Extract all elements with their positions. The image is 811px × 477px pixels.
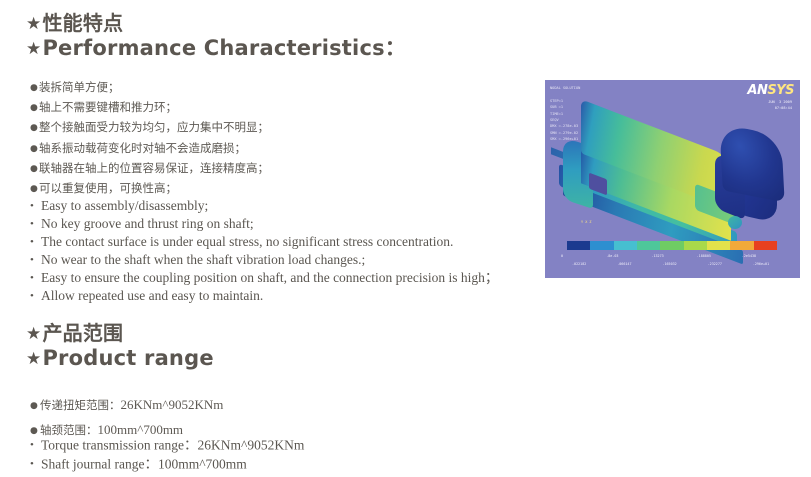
fea-colorbar-label: .13273 bbox=[651, 254, 696, 258]
fea-colorbar-swatch bbox=[637, 241, 660, 250]
list-item: ●轴系振动载荷变化时对轴不会造成磨损； bbox=[30, 139, 269, 159]
list-item: •Torque transmission range：26KNm^9052KNm bbox=[30, 436, 304, 455]
fea-colorbar-label: 0 bbox=[561, 254, 606, 258]
fea-colorbar-swatch bbox=[730, 241, 753, 250]
ansys-logo-suffix: SYS bbox=[767, 83, 794, 98]
list-item: •Easy to ensure the coupling position on… bbox=[30, 269, 498, 287]
fea-colorbar-swatch bbox=[754, 241, 777, 250]
performance-list-en: •Easy to assembly/disassembly; •No key g… bbox=[30, 197, 498, 306]
ansys-logo: ANSYS bbox=[747, 83, 794, 98]
bullet-icon: ● bbox=[30, 395, 40, 418]
fea-solution-info: NODAL SOLUTION STEP=1 SUB =1 TIME=1 SEQV… bbox=[550, 85, 580, 143]
bullet-icon: • bbox=[30, 436, 41, 454]
fea-colorbar-swatch bbox=[684, 241, 707, 250]
list-item: •Allow repeated use and easy to maintain… bbox=[30, 287, 498, 305]
product-range-list-en: •Torque transmission range：26KNm^9052KNm… bbox=[30, 436, 304, 473]
list-item: •Easy to assembly/disassembly; bbox=[30, 197, 498, 215]
fea-axis-triad: Y X Z bbox=[581, 220, 592, 224]
bullet-icon: • bbox=[30, 252, 41, 270]
list-item: •No key groove and thrust ring on shaft; bbox=[30, 215, 498, 233]
fea-colorbar-label: .165032 bbox=[662, 262, 707, 266]
list-item-text: No key groove and thrust ring on shaft; bbox=[41, 216, 254, 231]
list-item-text: Torque transmission range：26KNm^9052KNm bbox=[41, 438, 304, 453]
ansys-logo-prefix: AN bbox=[747, 83, 767, 98]
fea-end-nub bbox=[728, 216, 742, 229]
list-item: ●装拆简单方便； bbox=[30, 78, 269, 98]
fea-colorbar-labels-row1: 0 .8e-03 .13273 .188805 .2e5438 bbox=[561, 254, 787, 258]
list-item-label: 传递扭矩范围： bbox=[40, 398, 121, 412]
list-item-text: 装拆简单方便； bbox=[39, 80, 120, 94]
performance-list-cn: ●装拆简单方便； ●轴上不需要键槽和推力环； ●整个接触面受力较为均匀，应力集中… bbox=[30, 78, 269, 199]
fea-colorbar-label: .296e+01 bbox=[753, 262, 798, 266]
list-item-text: The contact surface is under equal stres… bbox=[41, 234, 453, 249]
performance-heading-block: ★性能特点 ★Performance Characteristics： bbox=[26, 12, 406, 60]
product-range-heading-block: ★产品范围 ★Product range bbox=[26, 322, 214, 370]
list-item-text: 可以重复使用，可换性高； bbox=[39, 181, 177, 195]
ansys-fea-image: NODAL SOLUTION STEP=1 SUB =1 TIME=1 SEQV… bbox=[545, 80, 800, 278]
fea-colorbar-swatch bbox=[567, 241, 590, 250]
fea-colorbar-label: .022182 bbox=[572, 262, 617, 266]
fea-colorbar-swatch bbox=[614, 241, 637, 250]
list-item-text: Easy to ensure the coupling position on … bbox=[41, 270, 498, 285]
fea-colorbar-label: .066147 bbox=[617, 262, 662, 266]
bullet-icon: ● bbox=[30, 79, 39, 98]
star-icon: ★ bbox=[26, 14, 41, 34]
star-icon: ★ bbox=[26, 324, 41, 344]
performance-heading-en: ★Performance Characteristics： bbox=[26, 36, 406, 61]
list-item-text: 轴上不需要键槽和推力环； bbox=[39, 100, 177, 114]
fea-colorbar-label: .8e-03 bbox=[606, 254, 651, 258]
performance-heading-en-text: Performance Characteristics： bbox=[42, 36, 406, 60]
bullet-icon: • bbox=[30, 216, 41, 234]
star-icon: ★ bbox=[26, 349, 41, 369]
fea-timestamp: JUN 3 2009 07:08:44 bbox=[768, 99, 792, 111]
fea-colorbar bbox=[567, 241, 777, 250]
performance-heading-cn-text: 性能特点 bbox=[42, 11, 123, 35]
list-item-text: 轴系振动载荷变化时对轴不会造成磨损； bbox=[39, 141, 246, 155]
list-item-value: 100mm^700mm bbox=[98, 422, 184, 437]
bullet-icon: ● bbox=[30, 119, 39, 138]
fea-colorbar-swatch bbox=[707, 241, 730, 250]
fea-colorbar-swatch bbox=[590, 241, 613, 250]
list-item: •No wear to the shaft when the shaft vib… bbox=[30, 251, 498, 269]
bullet-icon: • bbox=[30, 288, 41, 306]
fea-right-end-cap bbox=[719, 124, 784, 203]
list-item-label: 轴颈范围： bbox=[40, 423, 98, 437]
bullet-icon: • bbox=[30, 270, 41, 288]
list-item: ●整个接触面受力较为均匀，应力集中不明显； bbox=[30, 118, 269, 138]
list-item-text: Allow repeated use and easy to maintain. bbox=[41, 288, 263, 303]
performance-heading-cn: ★性能特点 bbox=[26, 12, 406, 36]
list-item-text: 联轴器在轴上的位置容易保证，连接精度高； bbox=[39, 161, 269, 175]
list-item-value: 26KNm^9052KNm bbox=[121, 397, 224, 412]
list-item: ●联轴器在轴上的位置容易保证，连接精度高； bbox=[30, 159, 269, 179]
fea-colorbar-label: .232277 bbox=[708, 262, 753, 266]
bullet-icon: • bbox=[30, 198, 41, 216]
bullet-icon: • bbox=[30, 455, 41, 473]
list-item-text: Easy to assembly/disassembly; bbox=[41, 198, 208, 213]
fea-colorbar-label: .2e5438 bbox=[742, 254, 787, 258]
star-icon: ★ bbox=[26, 39, 41, 59]
fea-colorbar-label: .188805 bbox=[697, 254, 742, 258]
bullet-icon: ● bbox=[30, 99, 39, 118]
product-range-heading-en: ★Product range bbox=[26, 346, 214, 371]
list-item-text: Shaft journal range：100mm^700mm bbox=[41, 456, 247, 471]
list-item-text: 整个接触面受力较为均匀，应力集中不明显； bbox=[39, 120, 269, 134]
list-item-text: No wear to the shaft when the shaft vibr… bbox=[41, 252, 365, 267]
list-item: •Shaft journal range：100mm^700mm bbox=[30, 455, 304, 474]
list-item: •The contact surface is under equal stre… bbox=[30, 233, 498, 251]
product-range-heading-en-text: Product range bbox=[42, 346, 213, 370]
list-item: ●传递扭矩范围：26KNm^9052KNm bbox=[30, 393, 223, 418]
product-range-heading-cn: ★产品范围 bbox=[26, 322, 214, 346]
bullet-icon: • bbox=[30, 234, 41, 252]
list-item: ●轴上不需要键槽和推力环； bbox=[30, 98, 269, 118]
bullet-icon: ● bbox=[30, 160, 39, 179]
product-range-heading-cn-text: 产品范围 bbox=[42, 321, 123, 345]
fea-colorbar-swatch bbox=[660, 241, 683, 250]
bullet-icon: ● bbox=[30, 140, 39, 159]
fea-colorbar-labels-row2: .022182 .066147 .165032 .232277 .296e+01 bbox=[561, 262, 798, 266]
